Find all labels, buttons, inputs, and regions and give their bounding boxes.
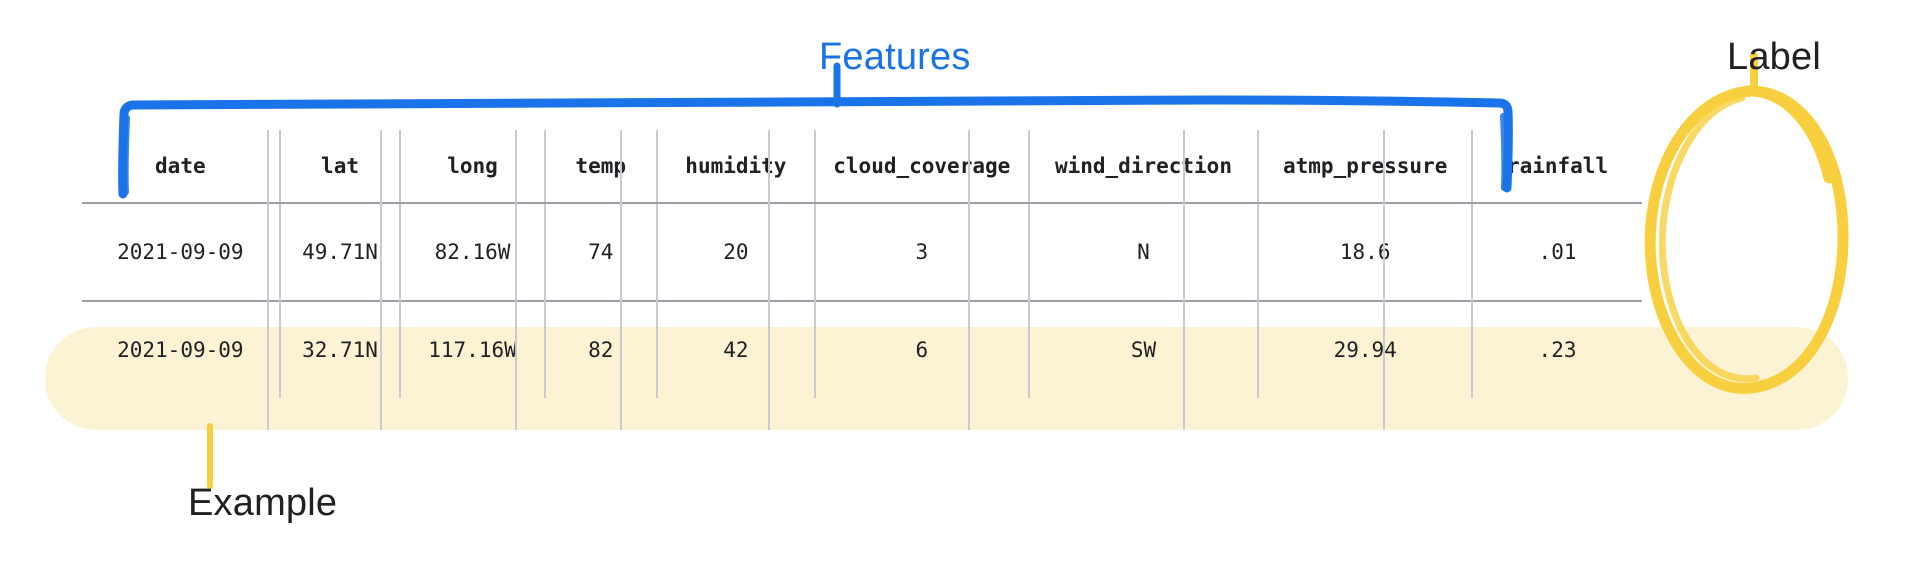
- cell-temp: 74: [545, 203, 657, 301]
- cell-lat: 32.71N: [280, 301, 401, 398]
- features-bracket-icon: [110, 92, 1670, 200]
- diagram-canvas: date lat long temp humidity cloud_covera…: [0, 0, 1920, 576]
- cell-humidity: 20: [657, 203, 815, 301]
- table-row-example: 2021-09-09 32.71N 117.16W 82 42 6 SW 29.…: [82, 301, 1642, 398]
- cell-date: 2021-09-09: [82, 301, 280, 398]
- cell-wind-direction: SW: [1029, 301, 1259, 398]
- cell-long: 82.16W: [400, 203, 544, 301]
- cell-temp: 82: [545, 301, 657, 398]
- cell-long: 117.16W: [400, 301, 544, 398]
- table-row: 2021-09-09 49.71N 82.16W 74 20 3 N 18.6 …: [82, 203, 1642, 301]
- cell-lat: 49.71N: [280, 203, 401, 301]
- example-leader-line-icon: [200, 424, 220, 490]
- cell-cloud-coverage: 6: [815, 301, 1029, 398]
- features-annotation-label: Features: [819, 36, 971, 79]
- cell-humidity: 42: [657, 301, 815, 398]
- cell-wind-direction: N: [1029, 203, 1259, 301]
- label-circle-annotation-icon: [1630, 80, 1860, 400]
- example-annotation-label: Example: [188, 482, 337, 525]
- cell-rainfall: .23: [1472, 301, 1642, 398]
- cell-atmp-pressure: 18.6: [1258, 203, 1472, 301]
- cell-atmp-pressure: 29.94: [1258, 301, 1472, 398]
- cell-date: 2021-09-09: [82, 203, 280, 301]
- cell-rainfall: .01: [1472, 203, 1642, 301]
- label-annotation-label: Label: [1727, 36, 1821, 79]
- cell-cloud-coverage: 3: [815, 203, 1029, 301]
